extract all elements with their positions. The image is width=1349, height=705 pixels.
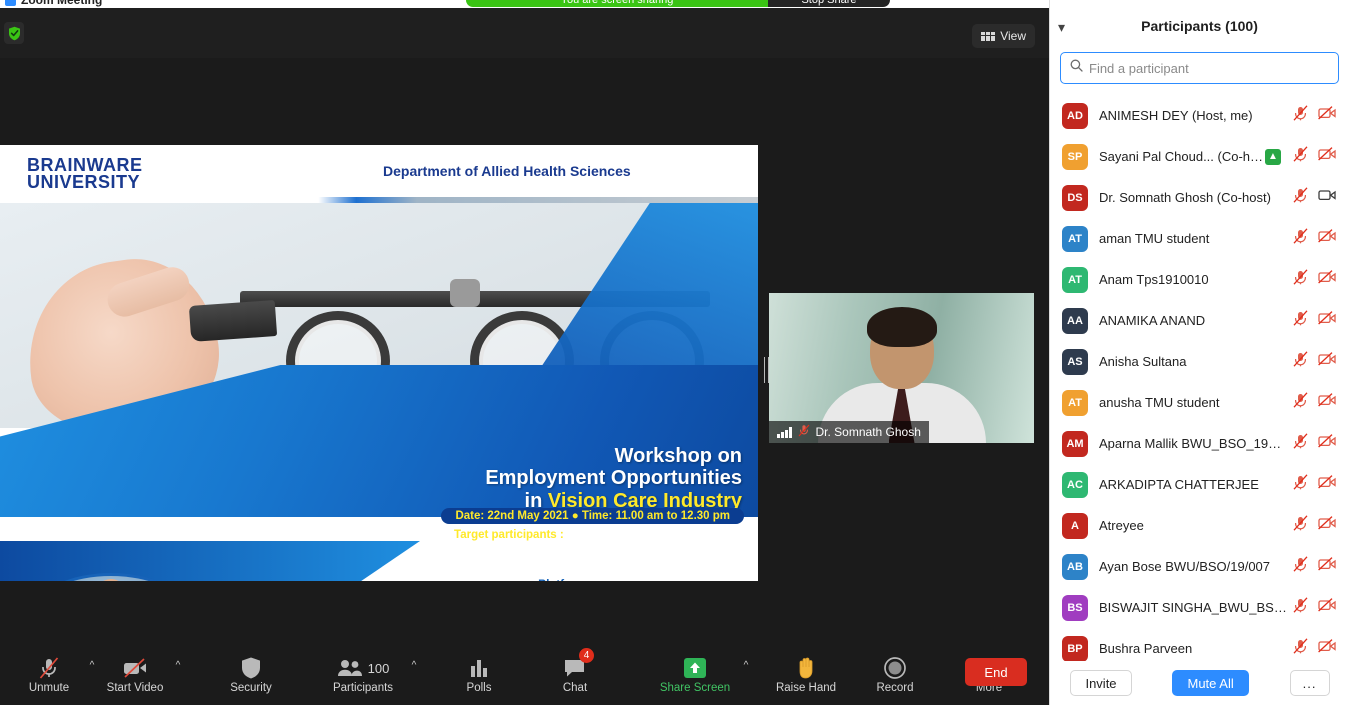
search-icon: [1070, 59, 1083, 77]
participants-count: 100: [368, 661, 390, 676]
participant-name: Ayan Bose BWU/BSO/19/007: [1099, 559, 1287, 574]
chevron-down-icon[interactable]: ▾: [1058, 20, 1065, 34]
meeting-toolbar: Unmute ^ Start Video ^ Security: [0, 644, 1049, 705]
microphone-muted-icon[interactable]: [1293, 515, 1308, 536]
participant-name: Bushra Parveen: [1099, 641, 1287, 656]
participant-row[interactable]: ADANIMESH DEY (Host, me): [1050, 95, 1349, 136]
participant-row[interactable]: ASAnisha Sultana: [1050, 341, 1349, 382]
participant-name: aman TMU student: [1099, 231, 1287, 246]
raise-hand-label: Raise Hand: [776, 682, 836, 694]
microphone-muted-icon[interactable]: [1293, 228, 1308, 249]
avatar: DS: [1062, 185, 1088, 211]
participants-more-button[interactable]: ...: [1290, 670, 1330, 696]
raise-hand-button[interactable]: Raise Hand: [766, 647, 846, 703]
slide-title: Workshop on Employment Opportunities in …: [322, 445, 742, 512]
polls-label: Polls: [467, 682, 492, 694]
avatar: AS: [1062, 349, 1088, 375]
start-video-label: Start Video: [107, 682, 164, 694]
microphone-muted-icon[interactable]: [1293, 187, 1308, 208]
chat-button[interactable]: 4 Chat: [538, 647, 612, 703]
unmute-button[interactable]: Unmute: [12, 647, 86, 703]
microphone-muted-icon[interactable]: [1293, 474, 1308, 495]
participant-row[interactable]: DSDr. Somnath Ghosh (Co-host): [1050, 177, 1349, 218]
participants-button[interactable]: 100 Participants: [318, 647, 408, 703]
participant-status-icons: [1293, 228, 1336, 249]
security-label: Security: [230, 682, 272, 694]
search-input[interactable]: [1089, 61, 1329, 76]
video-off-icon[interactable]: [1318, 270, 1336, 289]
participants-label: Participants: [333, 682, 393, 694]
participant-name: ANAMIKA ANAND: [1099, 313, 1287, 328]
view-button-label: View: [1000, 29, 1026, 43]
participants-panel-footer: Invite Mute All ...: [1050, 661, 1349, 705]
microphone-muted-icon: [37, 655, 61, 681]
people-icon: 100: [337, 655, 390, 681]
video-off-icon[interactable]: [1318, 147, 1336, 166]
participant-name: ANIMESH DEY (Host, me): [1099, 108, 1287, 123]
microphone-muted-icon[interactable]: [1293, 392, 1308, 413]
participant-list[interactable]: ADANIMESH DEY (Host, me) SPSayani Pal Ch…: [1050, 95, 1349, 665]
avatar: AT: [1062, 267, 1088, 293]
security-button[interactable]: Security: [214, 647, 288, 703]
participant-status-icons: [1293, 597, 1336, 618]
participants-panel: ▾ Participants (100) ADANIMESH DEY (Host…: [1049, 0, 1349, 705]
share-status-label: You are screen sharing: [466, 0, 768, 7]
raised-hand-icon: [795, 655, 817, 681]
microphone-muted-icon[interactable]: [1293, 351, 1308, 372]
chat-label: Chat: [563, 682, 587, 694]
zoom-app-icon: [5, 0, 16, 6]
chat-unread-badge: 4: [579, 648, 594, 663]
video-off-icon[interactable]: [1318, 352, 1336, 371]
video-off-icon: [122, 655, 148, 681]
video-on-icon[interactable]: [1318, 188, 1336, 207]
avatar: A: [1062, 513, 1088, 539]
video-tile-name-bar: Dr. Somnath Ghosh: [769, 421, 929, 443]
participant-status-icons: [1293, 515, 1336, 536]
signal-bars-icon: [777, 427, 792, 438]
share-screen-label: Share Screen: [660, 682, 730, 694]
stage-top-bar: View: [0, 8, 1049, 58]
promote-arrow-icon[interactable]: ▲: [1265, 149, 1281, 165]
participant-status-icons: [1293, 310, 1336, 331]
polls-button[interactable]: Polls: [442, 647, 516, 703]
participants-options-caret[interactable]: ^: [408, 652, 420, 678]
record-label: Record: [876, 682, 913, 694]
mute-all-button[interactable]: Mute All: [1172, 670, 1248, 696]
avatar: AB: [1062, 554, 1088, 580]
microphone-muted-icon[interactable]: [1293, 556, 1308, 577]
slide-date-time: Date: 22nd May 2021 ● Time: 11.00 am to …: [441, 508, 744, 524]
invite-button[interactable]: Invite: [1070, 670, 1131, 696]
brainware-university-logo: BRAINWAREUNIVERSITY: [27, 157, 143, 191]
participant-status-icons: [1293, 351, 1336, 372]
participant-search-box[interactable]: [1060, 52, 1339, 84]
participant-row[interactable]: ATAnam Tps1910010: [1050, 259, 1349, 300]
participant-status-icons: [1293, 392, 1336, 413]
record-circle-icon: [883, 655, 907, 681]
participant-row[interactable]: BSBISWAJIT SINGHA_BWU_BSO_19...: [1050, 587, 1349, 628]
slide-target-participants: Target participants : UG & PG students o…: [454, 529, 742, 541]
video-off-icon[interactable]: [1318, 434, 1336, 453]
avatar: AA: [1062, 308, 1088, 334]
participant-name: Dr. Somnath Ghosh (Co-host): [1099, 190, 1287, 205]
microphone-muted-icon[interactable]: [1293, 105, 1308, 126]
avatar: AD: [1062, 103, 1088, 129]
participant-name: Anam Tps1910010: [1099, 272, 1287, 287]
screen-share-status-bar: You are screen sharing Stop Share: [466, 0, 890, 7]
participant-name: BISWAJIT SINGHA_BWU_BSO_19...: [1099, 600, 1287, 615]
participant-row[interactable]: ATanusha TMU student: [1050, 382, 1349, 423]
participant-name: Aparna Mallik BWU_BSO_19_027: [1099, 436, 1287, 451]
microphone-muted-icon[interactable]: [1293, 146, 1308, 167]
participant-row[interactable]: BPBushra Parveen: [1050, 628, 1349, 665]
participants-panel-title: Participants (100): [1141, 18, 1258, 34]
share-options-caret[interactable]: ^: [740, 652, 752, 678]
start-video-button[interactable]: Start Video: [98, 647, 172, 703]
record-button[interactable]: Record: [858, 647, 932, 703]
participant-row[interactable]: ATaman TMU student: [1050, 218, 1349, 259]
end-meeting-button[interactable]: End: [965, 658, 1027, 686]
participant-status-icons: [1293, 146, 1336, 167]
video-off-icon[interactable]: [1318, 557, 1336, 576]
microphone-muted-icon[interactable]: [1293, 269, 1308, 290]
avatar: AM: [1062, 431, 1088, 457]
microphone-muted-icon[interactable]: [1293, 638, 1308, 659]
participant-status-icons: [1293, 187, 1336, 208]
view-button[interactable]: View: [972, 24, 1035, 48]
microphone-muted-icon[interactable]: [1293, 433, 1308, 454]
video-off-icon[interactable]: [1318, 311, 1336, 330]
video-off-icon[interactable]: [1318, 475, 1336, 494]
participant-row[interactable]: AAtreyee: [1050, 505, 1349, 546]
video-off-icon[interactable]: [1318, 516, 1336, 535]
participant-name: Atreyee: [1099, 518, 1287, 533]
audio-options-caret[interactable]: ^: [86, 652, 98, 678]
avatar: AT: [1062, 390, 1088, 416]
avatar: AT: [1062, 226, 1088, 252]
avatar: AC: [1062, 472, 1088, 498]
video-off-icon[interactable]: [1318, 229, 1336, 248]
participants-panel-header: ▾ Participants (100): [1050, 0, 1349, 52]
slide-title-line1: Workshop on: [322, 445, 742, 467]
participant-name: Anisha Sultana: [1099, 354, 1287, 369]
slide-department: Department of Allied Health Sciences: [383, 163, 631, 179]
participant-name: Sayani Pal Choud... (Co-host): [1099, 149, 1265, 164]
meeting-stage: View BRAINWAREUNIVERSITY Department of A…: [0, 8, 1049, 644]
bar-chart-icon: [469, 655, 489, 681]
participant-status-icons: [1293, 105, 1336, 126]
microphone-muted-icon: [798, 424, 810, 440]
platform-heading: Platform:: [392, 577, 737, 581]
participant-row[interactable]: SPSayani Pal Choud... (Co-host)▲: [1050, 136, 1349, 177]
grid-view-icon: [981, 32, 995, 41]
participant-status-icons: [1293, 474, 1336, 495]
slide-title-line2: Employment Opportunities: [322, 467, 742, 489]
shared-screen-slide[interactable]: BRAINWAREUNIVERSITY Department of Allied…: [0, 145, 758, 581]
participant-name: ARKADIPTA CHATTERJEE: [1099, 477, 1287, 492]
video-off-icon[interactable]: [1318, 639, 1336, 658]
shield-icon: [240, 655, 262, 681]
avatar: SP: [1062, 144, 1088, 170]
stop-share-button[interactable]: Stop Share: [768, 0, 890, 7]
share-screen-button[interactable]: Share Screen: [650, 647, 740, 703]
participant-status-icons: [1293, 269, 1336, 290]
video-off-icon[interactable]: [1318, 393, 1336, 412]
participant-status-icons: [1293, 556, 1336, 577]
microphone-muted-icon[interactable]: [1293, 597, 1308, 618]
participant-row[interactable]: ACARKADIPTA CHATTERJEE: [1050, 464, 1349, 505]
video-options-caret[interactable]: ^: [172, 652, 184, 678]
video-off-icon[interactable]: [1318, 598, 1336, 617]
participant-row[interactable]: ABAyan Bose BWU/BSO/19/007: [1050, 546, 1349, 587]
participant-status-icons: [1293, 638, 1336, 659]
window-title: Zoom Meeting: [21, 0, 102, 7]
speaker-video-tile[interactable]: Dr. Somnath Ghosh: [769, 293, 1034, 443]
avatar: BS: [1062, 595, 1088, 621]
slide-right-block: Platform: zoom Session Moderator Dr. Som…: [392, 577, 737, 581]
participant-name: anusha TMU student: [1099, 395, 1287, 410]
share-screen-icon: [682, 655, 708, 681]
video-off-icon[interactable]: [1318, 106, 1336, 125]
participant-status-icons: [1293, 433, 1336, 454]
microphone-muted-icon[interactable]: [1293, 310, 1308, 331]
shield-check-icon[interactable]: [4, 22, 24, 44]
participant-row[interactable]: AAANAMIKA ANAND: [1050, 300, 1349, 341]
slide-lower-wedge: [0, 541, 420, 581]
avatar: BP: [1062, 636, 1088, 662]
participant-row[interactable]: AMAparna Mallik BWU_BSO_19_027: [1050, 423, 1349, 464]
unmute-label: Unmute: [29, 682, 69, 694]
video-tile-participant-name: Dr. Somnath Ghosh: [816, 425, 921, 439]
